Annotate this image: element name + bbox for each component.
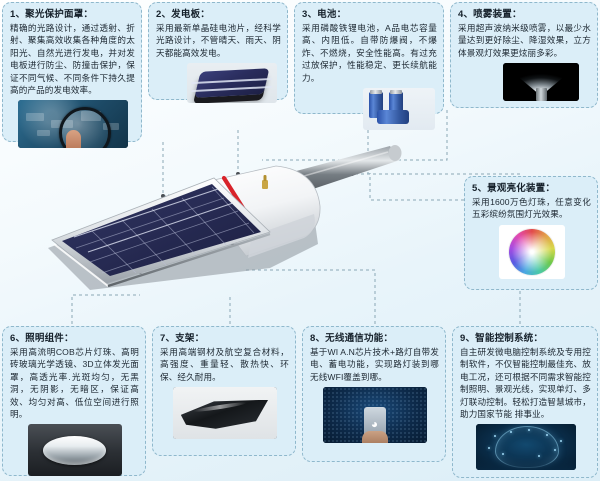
cob-lens-photo	[28, 424, 122, 476]
solar-street-light-illustration	[18, 140, 448, 320]
feature-panel-8-title: 8、无线通信功能：	[310, 332, 439, 345]
feature-panel-3-title: 3、电池：	[302, 8, 437, 21]
feature-panel-4-title: 4、喷雾装置：	[458, 8, 591, 21]
carbon-bracket-photo	[173, 387, 277, 439]
color-wheel-icon	[509, 229, 555, 275]
spray-nozzle-photo	[503, 63, 579, 101]
feature-panel-3-body: 采用磷酸铁锂电池，A品电芯容量高、内阻低。自带防爆阀，不爆炸、不燃烧，安全性能高…	[302, 22, 437, 84]
magnifier-photo	[18, 100, 128, 148]
feature-panel-5-title: 5、景观亮化装置：	[472, 182, 591, 195]
battery-cells-photo	[363, 88, 435, 130]
feature-panel-4[interactable]: 4、喷雾装置： 采用超声波纳米级喷雾，以最少水量达到更好除尘、降湿效果，立方体景…	[450, 2, 598, 108]
feature-panel-2-body: 采用最新单晶硅电池片，经科学光路设计，不管晴天、雨天、阴天都能高效发电。	[156, 22, 281, 59]
color-wheel-photo	[499, 225, 565, 279]
feature-panel-9-title: 9、智能控制系统：	[460, 332, 591, 345]
feature-panel-1-body: 精确的光路设计，通过透射、折射、聚集高效收集各种角度的太阳光、自然光进行发电，并…	[10, 22, 135, 96]
feature-panel-1[interactable]: 1、聚光保护面罩： 精确的光路设计，通过透射、折射、聚集高效收集各种角度的太阳光…	[2, 2, 142, 142]
cob-lens	[43, 436, 107, 465]
feature-panel-7-body: 采用高端钢材及航空复合材料，高强度、重量轻、散热快、环保、经久耐用。	[160, 346, 289, 383]
smart-brain-photo	[476, 424, 576, 470]
feature-panel-6[interactable]: 6、照明组件： 采用高流明COB芯片灯珠、高明砖玻璃光学透镜、3D立体发光面罩，…	[2, 326, 146, 476]
feature-panel-1-title: 1、聚光保护面罩：	[10, 8, 135, 21]
finger	[66, 130, 81, 148]
feature-panel-5-body: 采用1600万色灯珠，任意变化五彩缤纷氛围灯光效果。	[472, 196, 591, 221]
feature-panel-2-title: 2、发电板：	[156, 8, 281, 21]
feature-panel-3[interactable]: 3、电池： 采用磷酸铁锂电池，A品电芯容量高、内阻低。自带防爆阀，不爆炸、不燃烧…	[294, 2, 444, 114]
wifi-icon: ◕	[371, 418, 378, 430]
feature-panel-9-body: 自主研发微电脑控制系统及专用控制软件，不仅智能控制最佳充、放电工况，还可根据不同…	[460, 346, 591, 420]
feature-panel-4-body: 采用超声波纳米级喷雾，以最少水量达到更好除尘、降湿效果，立方体景观灯效果更炫丽多…	[458, 22, 591, 59]
feature-panel-8[interactable]: 8、无线通信功能： 基于WI A.N芯片技术+路灯自带发电、蓄电功能，实现路灯装…	[302, 326, 446, 462]
solar-cell-photo	[187, 63, 277, 103]
wifi-phone-photo: ◕	[323, 387, 427, 443]
feature-panel-2[interactable]: 2、发电板： 采用最新单晶硅电池片，经科学光路设计，不管晴天、雨天、阴天都能高效…	[148, 2, 288, 100]
feature-panel-6-title: 6、照明组件：	[10, 332, 139, 345]
hand	[362, 431, 388, 443]
infographic-canvas: 1、聚光保护面罩： 精确的光路设计，通过透射、折射、聚集高效收集各种角度的太阳光…	[0, 0, 600, 481]
feature-panel-9[interactable]: 9、智能控制系统： 自主研发微电脑控制系统及专用控制软件，不仅智能控制最佳充、放…	[452, 326, 598, 478]
feature-panel-6-body: 采用高流明COB芯片灯珠、高明砖玻璃光学透镜、3D立体发光面罩，高透光率.光斑均…	[10, 346, 139, 420]
feature-panel-7-title: 7、支架：	[160, 332, 289, 345]
feature-panel-8-body: 基于WI A.N芯片技术+路灯自带发电、蓄电功能，实现路灯装到哪无线WFI覆盖到…	[310, 346, 439, 383]
feature-panel-7[interactable]: 7、支架： 采用高端钢材及航空复合材料，高强度、重量轻、散热快、环保、经久耐用。	[152, 326, 296, 456]
feature-panel-5[interactable]: 5、景观亮化装置： 采用1600万色灯珠，任意变化五彩缤纷氛围灯光效果。	[464, 176, 598, 290]
